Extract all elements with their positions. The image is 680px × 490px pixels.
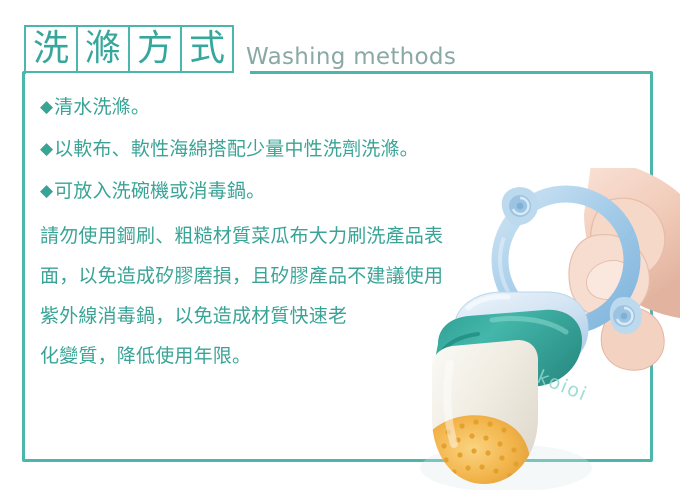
bullet-item: ◆ 可放入洗碗機或消毒鍋。: [40, 182, 470, 201]
bullet-item: ◆ 以軟布、軟性海綿搭配少量中性洗劑洗滌。: [40, 140, 470, 159]
diamond-bullet-icon: ◆: [40, 183, 53, 200]
bullet-item-text: 清水洗滌。: [54, 98, 150, 117]
bullet-item-text: 以軟布、軟性海綿搭配少量中性洗劑洗滌。: [54, 140, 419, 159]
title-char-3: 方: [128, 25, 182, 73]
title-char-4: 式: [180, 25, 234, 73]
bullet-item: ◆ 清水洗滌。: [40, 98, 470, 117]
washing-methods-infographic: 洗 滌 方 式 Washing methods ◆ 清水洗滌。 ◆ 以軟布、軟性…: [0, 0, 680, 490]
title-char-2: 滌: [76, 25, 130, 73]
diamond-bullet-icon: ◆: [40, 99, 53, 116]
page-title: 洗 滌 方 式 Washing methods: [24, 25, 456, 73]
diamond-bullet-icon: ◆: [40, 141, 53, 158]
paragraph-line: 紫外線消毒鍋，以免造成材質快速老: [40, 307, 465, 326]
washing-instructions: ◆ 清水洗滌。 ◆ 以軟布、軟性海綿搭配少量中性洗劑洗滌。 ◆ 可放入洗碗機或消…: [40, 98, 470, 387]
title-char-1: 洗: [24, 25, 78, 73]
paragraph-line: 化變質，降低使用年限。: [40, 347, 465, 366]
paragraph-line: 面，以免造成矽膠磨損，且矽膠產品不建議使用: [40, 267, 465, 286]
warning-paragraph: 請勿使用鋼刷、粗糙材質菜瓜布大力刷洗產品表 面，以免造成矽膠磨損，且矽膠產品不建…: [40, 227, 465, 366]
bullet-item-text: 可放入洗碗機或消毒鍋。: [54, 182, 265, 201]
title-character-boxes: 洗 滌 方 式: [24, 25, 234, 73]
paragraph-line: 請勿使用鋼刷、粗糙材質菜瓜布大力刷洗產品表: [40, 227, 465, 246]
title-subtitle-english: Washing methods: [246, 46, 456, 73]
